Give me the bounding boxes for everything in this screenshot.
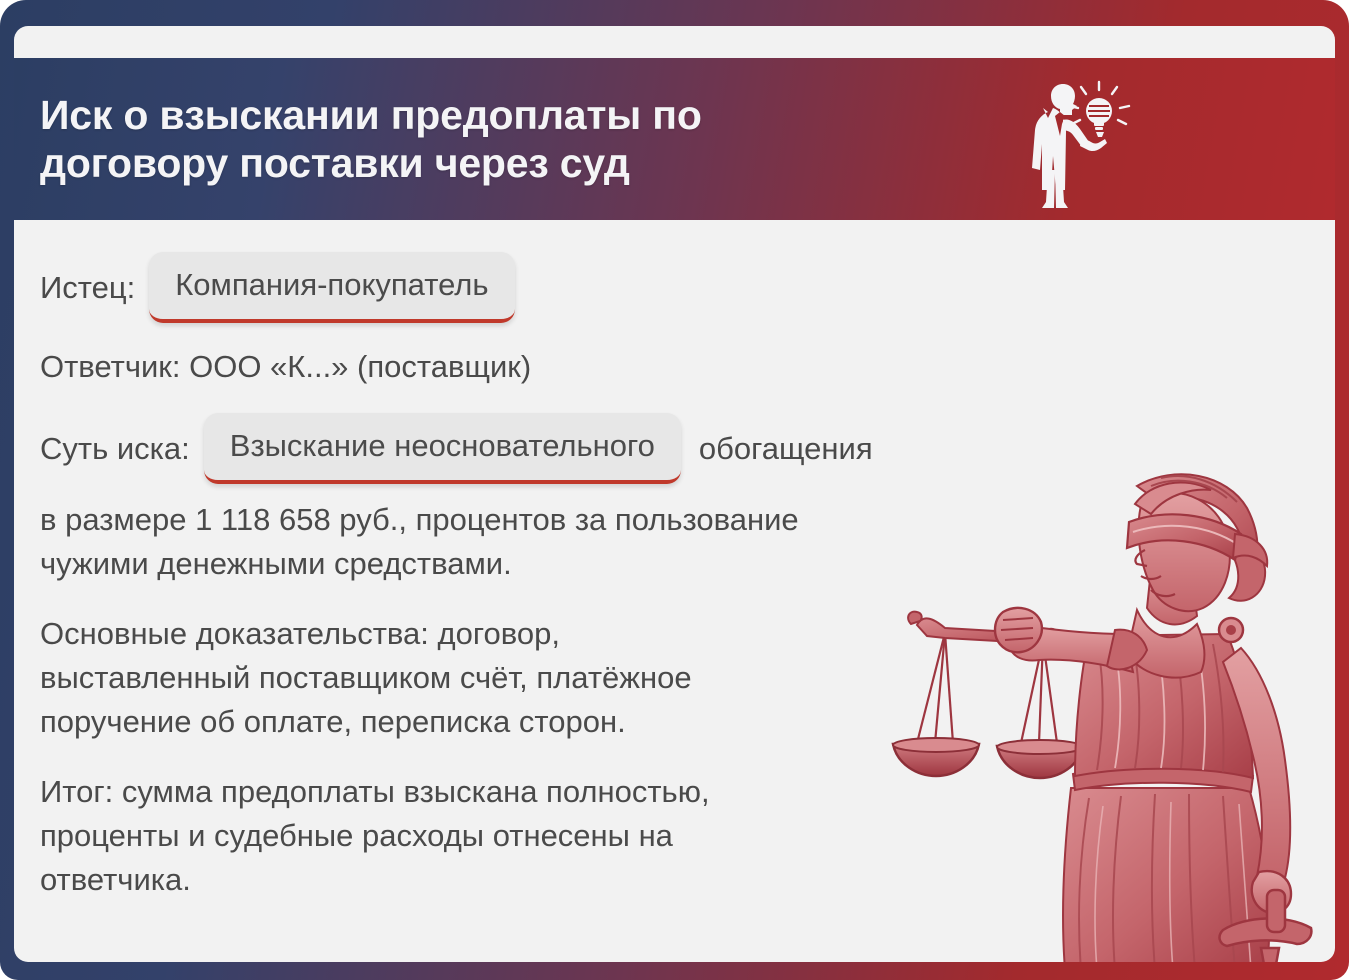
plaintiff-row: Истец: Компания-покупатель [40,252,1100,323]
claim-amount-text: в размере 1 118 658 руб., процентов за п… [40,498,1100,586]
businessman-idea-lightbulb-icon [1001,64,1151,214]
claim-chip[interactable]: Взыскание неосновательного [204,413,681,484]
result-text: Итог: сумма предоплаты взыскана полность… [40,770,1100,902]
claim-label: Суть иска: [40,428,190,470]
card-body: Истец: Компания-покупатель Ответчик: ООО… [40,252,1100,928]
plaintiff-label: Истец: [40,267,135,309]
card-inner-panel: Иск о взыскании предоплаты по договору п… [14,26,1335,962]
defendant-line: Ответчик: ООО «К...» (поставщик) [40,345,1100,389]
claim-row: Суть иска: Взыскание неосновательного об… [40,413,1100,484]
card-header: Иск о взыскании предоплаты по договору п… [14,58,1335,220]
evidence-text: Основные доказательства: договор, выстав… [40,612,1100,744]
card-frame: Иск о взыскании предоплаты по договору п… [0,0,1349,980]
plaintiff-chip[interactable]: Компания-покупатель [149,252,514,323]
page-title: Иск о взыскании предоплаты по договору п… [40,91,1001,188]
claim-suffix-text: обогащения [699,431,873,467]
